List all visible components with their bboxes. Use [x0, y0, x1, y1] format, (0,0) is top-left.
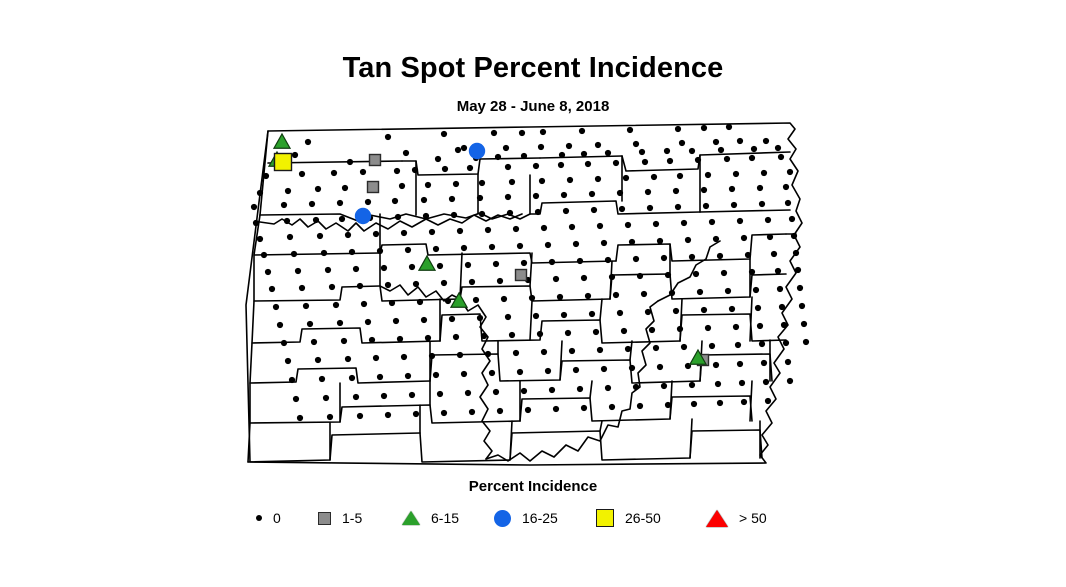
- map-point-zero: [341, 338, 347, 344]
- map-point-zero: [491, 130, 497, 136]
- map-point-zero: [365, 199, 371, 205]
- legend-item-label: > 50: [739, 510, 767, 526]
- map-point-zero: [726, 124, 732, 130]
- map-point-zero: [763, 379, 769, 385]
- map-point-zero: [601, 240, 607, 246]
- map-point-zero: [661, 255, 667, 261]
- map-point-zero: [533, 193, 539, 199]
- map-point-zero: [321, 250, 327, 256]
- map-point-zero: [675, 204, 681, 210]
- map-point-zero: [649, 327, 655, 333]
- map-point-zero: [665, 402, 671, 408]
- map-point-zero: [633, 384, 639, 390]
- map-point-zero: [449, 316, 455, 322]
- map-point-zero: [803, 339, 809, 345]
- map-point-zero: [521, 260, 527, 266]
- map-point-zero: [295, 268, 301, 274]
- map-point-zero: [327, 414, 333, 420]
- map-point-zero: [771, 251, 777, 257]
- map-point-zero: [541, 225, 547, 231]
- map-point-zero: [303, 303, 309, 309]
- legend-item-label: 6-15: [431, 510, 459, 526]
- map-point-zero: [433, 372, 439, 378]
- map-point-zero: [539, 178, 545, 184]
- map-point-zero: [469, 279, 475, 285]
- map-point-zero: [509, 179, 515, 185]
- map-point-zero: [395, 214, 401, 220]
- map-point-square: [516, 270, 527, 281]
- map-point-zero: [577, 258, 583, 264]
- map-point-zero: [425, 335, 431, 341]
- map-point-zero: [457, 228, 463, 234]
- map-point-triangle: [274, 134, 290, 148]
- map-point-zero: [469, 409, 475, 415]
- map-point-zero: [605, 257, 611, 263]
- map-point-zero: [617, 310, 623, 316]
- map-point-zero: [751, 146, 757, 152]
- map-point-zero: [319, 376, 325, 382]
- map-point-zero: [589, 311, 595, 317]
- map-point-zero: [353, 394, 359, 400]
- map-point-zero: [664, 148, 670, 154]
- map-point-zero: [597, 347, 603, 353]
- map-point-zero: [653, 221, 659, 227]
- map-point-zero: [317, 233, 323, 239]
- map-point-zero: [529, 295, 535, 301]
- map-point-zero: [257, 236, 263, 242]
- map-point-zero: [517, 243, 523, 249]
- map-point-zero: [493, 261, 499, 267]
- map-point-zero: [783, 340, 789, 346]
- map-point-zero: [357, 413, 363, 419]
- legend-item-label: 0: [273, 510, 281, 526]
- map-point-zero: [403, 150, 409, 156]
- map-point-zero: [309, 201, 315, 207]
- map-point-zero: [505, 314, 511, 320]
- legend-item-blue-circle: 16-25: [494, 504, 558, 532]
- map-point-zero: [251, 204, 257, 210]
- red-triangle-icon: [706, 510, 728, 527]
- map-point-zero: [613, 292, 619, 298]
- north-dakota-map: [230, 115, 830, 480]
- map-point-zero: [467, 165, 473, 171]
- map-point-zero: [795, 267, 801, 273]
- map-point-zero: [269, 286, 275, 292]
- map-point-zero: [329, 284, 335, 290]
- map-point-zero: [627, 127, 633, 133]
- map-point-zero: [669, 290, 675, 296]
- map-point-zero: [357, 283, 363, 289]
- map-point-zero: [545, 368, 551, 374]
- map-point-zero: [360, 169, 366, 175]
- map-point-zero: [399, 183, 405, 189]
- map-point-zero: [637, 403, 643, 409]
- map-point-zero: [777, 286, 783, 292]
- map-point-zero: [759, 341, 765, 347]
- map-point-zero: [373, 355, 379, 361]
- map-point-zero: [569, 348, 575, 354]
- map-point-zero: [799, 303, 805, 309]
- map-point-triangle: [419, 256, 435, 270]
- map-point-zero: [639, 149, 645, 155]
- map-point-zero: [517, 369, 523, 375]
- map-point-zero: [725, 288, 731, 294]
- map-point-zero: [535, 209, 541, 215]
- map-point-zero: [601, 366, 607, 372]
- legend-item-label: 16-25: [522, 510, 558, 526]
- map-point-zero: [689, 382, 695, 388]
- map-point-zero: [561, 312, 567, 318]
- map-point-zero: [595, 176, 601, 182]
- map-point-zero: [729, 186, 735, 192]
- map-point-zero: [749, 155, 755, 161]
- map-point-zero: [653, 345, 659, 351]
- map-point-zero: [519, 130, 525, 136]
- map-point-zero: [741, 235, 747, 241]
- map-point-zero: [557, 294, 563, 300]
- map-point-zero: [377, 374, 383, 380]
- map-point-zero: [315, 186, 321, 192]
- map-point-zero: [713, 236, 719, 242]
- map-point-zero: [789, 216, 795, 222]
- map-point-zero: [349, 375, 355, 381]
- map-point-zero: [737, 218, 743, 224]
- map-point-zero: [739, 380, 745, 386]
- map-point-zero: [581, 275, 587, 281]
- map-point-zero: [257, 190, 263, 196]
- legend-item-gray-square: 1-5: [318, 504, 362, 532]
- map-point-zero: [297, 415, 303, 421]
- map-point-zero: [689, 148, 695, 154]
- map-point-zero: [767, 234, 773, 240]
- map-point-zero: [553, 406, 559, 412]
- map-point-zero: [413, 281, 419, 287]
- map-point-zero: [673, 188, 679, 194]
- map-point-zero: [675, 126, 681, 132]
- map-point-zero: [337, 200, 343, 206]
- map-point-zero: [573, 367, 579, 373]
- map-point-zero: [753, 287, 759, 293]
- legend: Percent Incidence 01-56-1516-2526-50> 50: [0, 478, 1066, 538]
- map-point-zero: [285, 358, 291, 364]
- map-point-zero: [441, 280, 447, 286]
- map-point-zero: [778, 154, 784, 160]
- map-point-zero: [717, 400, 723, 406]
- map-point-zero: [323, 395, 329, 401]
- map-point-zero: [457, 352, 463, 358]
- map-point-zero: [429, 353, 435, 359]
- map-point-zero: [503, 145, 509, 151]
- map-point-circle: [355, 208, 371, 224]
- tan-spot-incidence-figure: Tan Spot Percent Incidence May 28 - June…: [0, 0, 1066, 587]
- map-point-zero: [642, 159, 648, 165]
- map-point-zero: [573, 241, 579, 247]
- map-point-zero: [477, 315, 483, 321]
- map-point-zero: [623, 175, 629, 181]
- map-point-zero: [401, 354, 407, 360]
- map-point-zero: [581, 405, 587, 411]
- map-point-zero: [521, 388, 527, 394]
- map-point-zero: [721, 270, 727, 276]
- map-point-zero: [409, 264, 415, 270]
- map-point-zero: [345, 232, 351, 238]
- map-point-zero: [765, 217, 771, 223]
- map-point-zero: [540, 129, 546, 135]
- map-point-zero: [277, 322, 283, 328]
- map-point-zero: [757, 323, 763, 329]
- map-point-zero: [273, 304, 279, 310]
- map-point-zero: [724, 156, 730, 162]
- map-point-zero: [645, 189, 651, 195]
- map-point-square: [370, 155, 381, 166]
- map-point-zero: [783, 184, 789, 190]
- map-point-zero: [757, 185, 763, 191]
- map-point-zero: [397, 336, 403, 342]
- map-point-zero: [342, 185, 348, 191]
- map-point-zero: [361, 301, 367, 307]
- map-point-zero: [657, 238, 663, 244]
- map-point-zero: [657, 364, 663, 370]
- map-point-zero: [325, 267, 331, 273]
- map-point-zero: [425, 182, 431, 188]
- map-point-zero: [381, 393, 387, 399]
- map-point-zero: [449, 196, 455, 202]
- map-point-zero: [497, 408, 503, 414]
- map-point-zero: [609, 404, 615, 410]
- map-point-zero: [787, 169, 793, 175]
- map-point-zero: [437, 263, 443, 269]
- map-point-square: [368, 182, 379, 193]
- yellow-square-icon: [596, 509, 614, 527]
- map-point-zero: [801, 321, 807, 327]
- map-point-zero: [637, 273, 643, 279]
- map-point-zero: [405, 247, 411, 253]
- map-point-zero: [493, 389, 499, 395]
- map-point-zero: [505, 194, 511, 200]
- map-point-zero: [595, 142, 601, 148]
- map-point-zero: [541, 349, 547, 355]
- legend-item-yellow-square: 26-50: [596, 504, 661, 532]
- map-point-zero: [641, 291, 647, 297]
- map-point-zero: [681, 220, 687, 226]
- map-point-zero: [465, 262, 471, 268]
- map-point-zero: [679, 140, 685, 146]
- map-point-zero: [759, 201, 765, 207]
- map-point-zero: [461, 245, 467, 251]
- map-point-zero: [461, 371, 467, 377]
- blue-circle-icon: [494, 510, 511, 527]
- map-point-zero: [785, 359, 791, 365]
- map-point-zero: [521, 153, 527, 159]
- map-point-zero: [392, 198, 398, 204]
- map-point-zero: [585, 293, 591, 299]
- map-point-zero: [495, 154, 501, 160]
- map-point-zero: [731, 202, 737, 208]
- map-point-zero: [473, 297, 479, 303]
- map-point-zero: [537, 331, 543, 337]
- map-point-zero: [507, 210, 513, 216]
- map-point-zero: [347, 159, 353, 165]
- map-point-zero: [741, 399, 747, 405]
- map-point-zero: [559, 152, 565, 158]
- map-point-zero: [705, 325, 711, 331]
- map-point-zero: [689, 254, 695, 260]
- map-point-zero: [307, 321, 313, 327]
- map-point-zero: [337, 320, 343, 326]
- map-point-zero: [735, 342, 741, 348]
- map-point-circle: [469, 143, 485, 159]
- map-point-zero: [701, 307, 707, 313]
- map-point-zero: [715, 381, 721, 387]
- map-point-zero: [579, 128, 585, 134]
- map-point-zero: [481, 333, 487, 339]
- map-point-zero: [393, 318, 399, 324]
- map-point-zero: [549, 387, 555, 393]
- map-point-square: [275, 154, 292, 171]
- legend-item-label: 1-5: [342, 510, 362, 526]
- legend-item-black-dot: 0: [256, 504, 281, 532]
- map-point-zero: [533, 313, 539, 319]
- map-point-zero: [421, 317, 427, 323]
- map-point-zero: [453, 334, 459, 340]
- map-point-zero: [261, 252, 267, 258]
- map-point-zero: [497, 278, 503, 284]
- map-point-zero: [345, 356, 351, 362]
- map-point-zero: [621, 328, 627, 334]
- map-point-zero: [412, 167, 418, 173]
- map-point-zero: [285, 188, 291, 194]
- map-point-zero: [299, 171, 305, 177]
- map-point-zero: [629, 365, 635, 371]
- map-point-zero: [479, 180, 485, 186]
- map-point-zero: [501, 296, 507, 302]
- map-point-zero: [433, 246, 439, 252]
- map-point-zero: [263, 173, 269, 179]
- map-point-zero: [569, 224, 575, 230]
- map-point-zero: [461, 145, 467, 151]
- map-point-zero: [566, 143, 572, 149]
- page-title: Tan Spot Percent Incidence: [0, 52, 1066, 85]
- green-triangle-icon: [402, 511, 420, 525]
- map-point-zero: [385, 282, 391, 288]
- map-point-zero: [451, 212, 457, 218]
- map-point-zero: [581, 151, 587, 157]
- map-point-zero: [381, 265, 387, 271]
- map-point-zero: [455, 147, 461, 153]
- map-point-zero: [701, 125, 707, 131]
- map-point-zero: [755, 305, 761, 311]
- map-point-zero: [779, 304, 785, 310]
- date-range-subtitle: May 28 - June 8, 2018: [0, 98, 1066, 115]
- map-point-zero: [651, 174, 657, 180]
- map-point-zero: [709, 343, 715, 349]
- map-point-zero: [253, 220, 259, 226]
- map-point-zero: [445, 298, 451, 304]
- map-point-zero: [733, 324, 739, 330]
- map-point-zero: [441, 131, 447, 137]
- map-point-zero: [417, 299, 423, 305]
- legend-item-label: 26-50: [625, 510, 661, 526]
- map-point-zero: [765, 398, 771, 404]
- map-point-zero: [695, 157, 701, 163]
- map-point-zero: [717, 253, 723, 259]
- map-point-zero: [421, 197, 427, 203]
- legend-item-green-triangle: 6-15: [402, 504, 459, 532]
- map-point-zero: [775, 268, 781, 274]
- map-point-zero: [401, 230, 407, 236]
- map-point-zero: [549, 259, 555, 265]
- map-point-zero: [479, 211, 485, 217]
- map-point-zero: [609, 274, 615, 280]
- map-point-zero: [589, 191, 595, 197]
- map-point-zero: [577, 386, 583, 392]
- map-point-zero: [785, 200, 791, 206]
- map-point-zero: [353, 266, 359, 272]
- map-point-zero: [505, 164, 511, 170]
- map-point-zero: [605, 150, 611, 156]
- map-point-zero: [281, 340, 287, 346]
- map-point-zero: [394, 168, 400, 174]
- map-point-zero: [292, 152, 298, 158]
- map-point-zero: [625, 346, 631, 352]
- map-point-zero: [613, 160, 619, 166]
- map-point-zero: [513, 350, 519, 356]
- map-point-zero: [553, 276, 559, 282]
- map-point-zero: [645, 309, 651, 315]
- map-point-zero: [677, 326, 683, 332]
- map-point-zero: [311, 339, 317, 345]
- map-point-zero: [673, 308, 679, 314]
- map-point-zero: [791, 233, 797, 239]
- map-point-zero: [538, 144, 544, 150]
- map-point-zero: [489, 244, 495, 250]
- map-point-zero: [525, 407, 531, 413]
- map-point-zero: [713, 139, 719, 145]
- map-point-zero: [465, 390, 471, 396]
- map-point-zero: [281, 202, 287, 208]
- map-point-zero: [605, 385, 611, 391]
- map-point-zero: [373, 231, 379, 237]
- map-point-zero: [405, 373, 411, 379]
- map-point-zero: [793, 250, 799, 256]
- map-point-zero: [625, 222, 631, 228]
- map-point-zero: [629, 239, 635, 245]
- map-point-zero: [385, 412, 391, 418]
- map-point-zero: [718, 147, 724, 153]
- map-point-zero: [593, 329, 599, 335]
- map-point-zero: [313, 217, 319, 223]
- map-point-zero: [513, 226, 519, 232]
- map-point-zero: [423, 213, 429, 219]
- map-point-zero: [442, 166, 448, 172]
- map-point-zero: [681, 344, 687, 350]
- map-point-zero: [485, 351, 491, 357]
- map-point-zero: [733, 171, 739, 177]
- map-point-zero: [339, 216, 345, 222]
- map-point-zero: [781, 322, 787, 328]
- map-point-zero: [377, 248, 383, 254]
- map-point-zero: [737, 361, 743, 367]
- map-point-zero: [633, 141, 639, 147]
- map-point-zero: [763, 138, 769, 144]
- map-point-zero: [761, 360, 767, 366]
- gray-square-icon: [318, 512, 331, 525]
- legend-item-red-triangle: > 50: [706, 504, 767, 532]
- map-point-zero: [409, 392, 415, 398]
- map-point-zero: [705, 172, 711, 178]
- map-point-zero: [775, 145, 781, 151]
- map-point-zero: [365, 319, 371, 325]
